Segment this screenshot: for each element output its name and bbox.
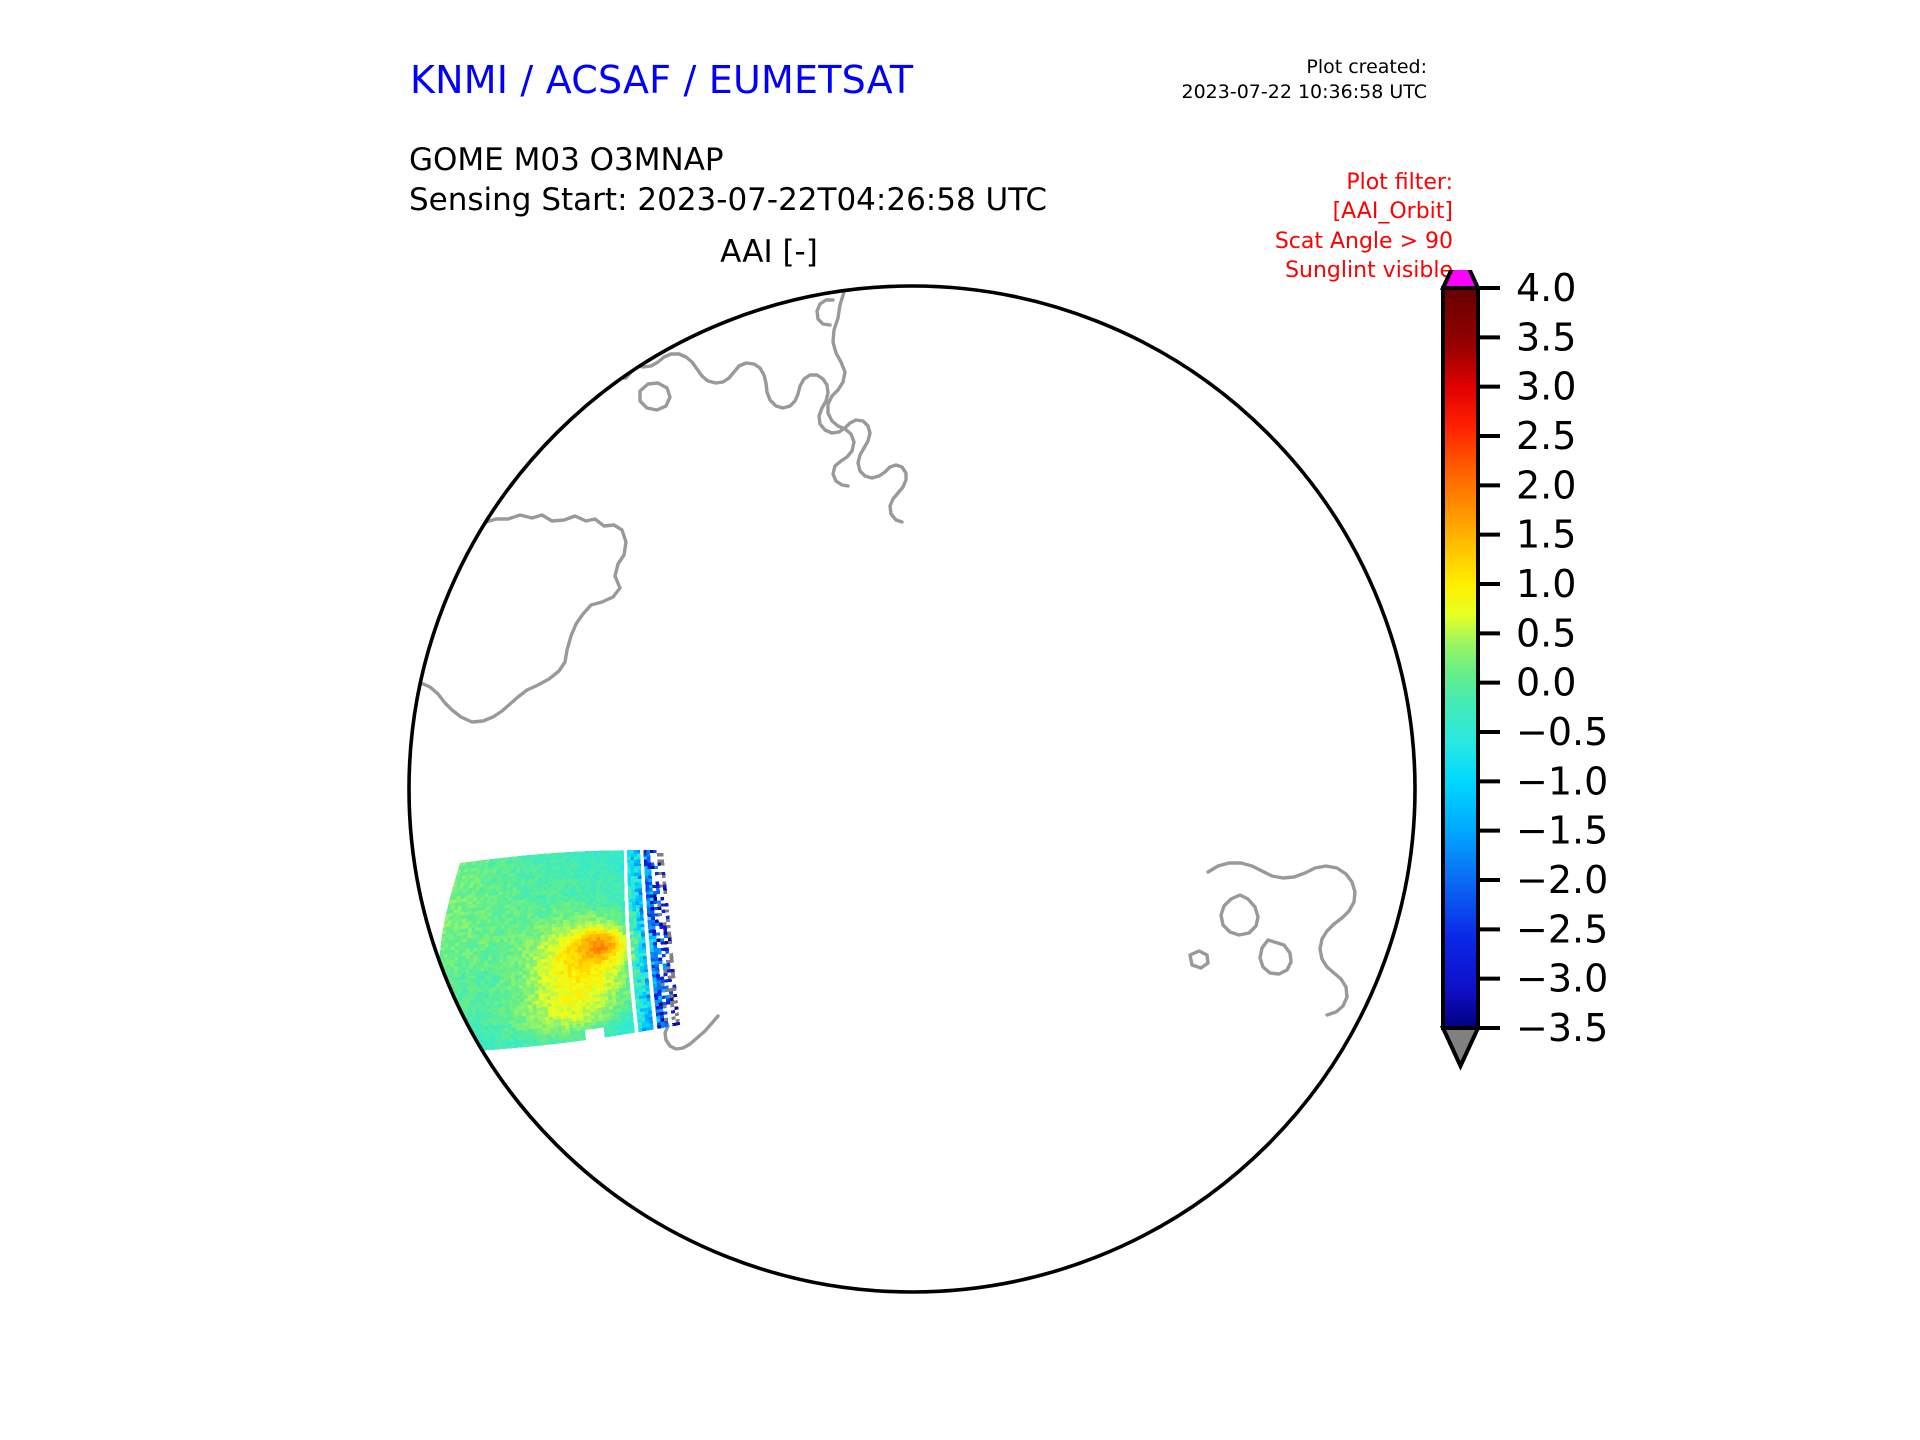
swath-pixel — [479, 1013, 483, 1017]
swath-pixel — [631, 879, 635, 882]
swath-pixel — [482, 1005, 486, 1009]
swath-pixel — [673, 988, 677, 992]
swath-pixel — [607, 851, 610, 854]
swath-pixel — [594, 1005, 598, 1009]
swath-pixel — [527, 1026, 531, 1030]
swath-pixel — [477, 968, 481, 972]
swath-pixel — [469, 982, 473, 986]
swath-pixel — [618, 982, 622, 986]
swath-pixel — [627, 1030, 631, 1034]
swath-pixel — [534, 929, 538, 933]
swath-pixel — [575, 899, 579, 903]
swath-pixel — [540, 864, 544, 868]
swath-pixel — [593, 881, 597, 885]
swath-pixel — [499, 1018, 503, 1022]
swath-pixel — [440, 944, 444, 948]
swath-pixel — [565, 981, 569, 985]
swath-pixel — [608, 953, 612, 957]
swath-pixel — [541, 857, 545, 861]
swath-pixel — [508, 993, 512, 997]
swath-pixel — [621, 883, 625, 886]
swath-pixel — [469, 921, 473, 925]
swath-pixel — [607, 887, 611, 891]
swath-pixel — [614, 1019, 618, 1023]
swath-pixel — [663, 881, 667, 884]
swath-pixel — [627, 870, 631, 873]
swath-pixel — [589, 934, 593, 938]
swath-pixel — [635, 879, 639, 882]
swath-pixel — [540, 1035, 544, 1039]
swath-pixel — [530, 970, 534, 974]
swath-pixel — [584, 1026, 588, 1030]
swath-pixel — [650, 894, 654, 897]
swath-pixel — [447, 998, 451, 1002]
swath-pixel — [629, 905, 633, 909]
swath-pixel — [564, 896, 568, 900]
swath-pixel — [654, 996, 658, 1000]
swath-pixel — [614, 850, 617, 853]
swath-pixel — [552, 958, 556, 962]
swath-pixel — [441, 937, 445, 941]
swath-pixel — [538, 980, 542, 984]
swath-pixel — [553, 1023, 557, 1027]
swath-pixel — [584, 851, 588, 855]
swath-pixel — [539, 1000, 543, 1004]
swath-pixel — [567, 950, 571, 954]
swath-pixel — [547, 887, 551, 891]
swath-pixel — [485, 1029, 489, 1033]
swath-pixel — [618, 975, 622, 979]
swath-pixel — [545, 979, 549, 983]
swath-pixel — [538, 912, 542, 916]
swath-pixel — [627, 850, 630, 853]
swath-pixel — [524, 995, 528, 999]
swath-pixel — [657, 980, 661, 984]
swath-pixel — [506, 914, 510, 918]
swath-pixel — [523, 981, 527, 985]
swath-pixel — [514, 1017, 518, 1021]
swath-pixel — [649, 882, 653, 885]
swath-pixel — [653, 894, 657, 897]
swath-pixel — [535, 990, 539, 994]
swath-pixel — [582, 955, 586, 959]
swath-pixel — [481, 958, 485, 962]
swath-pixel — [628, 876, 632, 879]
swath-pixel — [497, 990, 501, 994]
swath-pixel — [526, 940, 530, 944]
swath-pixel — [485, 940, 489, 944]
swath-pixel — [561, 1022, 565, 1026]
swath-pixel — [511, 1020, 515, 1024]
swath-pixel — [556, 1012, 560, 1016]
swath-pixel — [620, 958, 624, 962]
swath-pixel — [527, 882, 531, 886]
colorbar-ticks-group: 4.03.53.02.52.01.51.00.50.0−0.5−1.0−1.5−… — [1478, 270, 1608, 1050]
swath-pixel — [663, 1005, 667, 1009]
swath-pixel — [660, 1018, 664, 1022]
swath-pixel — [511, 1017, 515, 1021]
swath-pixel — [658, 996, 662, 1000]
swath-pixel — [589, 924, 593, 928]
swath-pixel — [509, 1000, 513, 1004]
swath-pixel — [607, 1023, 611, 1027]
swath-pixel — [494, 1004, 498, 1008]
swath-pixel — [647, 850, 651, 853]
swath-pixel — [493, 902, 497, 906]
swath-pixel — [654, 993, 658, 997]
swath-pixel — [565, 984, 569, 988]
swath-pixel — [674, 1000, 678, 1004]
swath-pixel — [469, 1020, 473, 1024]
swath-pixel — [543, 1035, 547, 1039]
swath-pixel — [660, 853, 664, 856]
swath-pixel — [641, 982, 645, 986]
swath-pixel — [589, 938, 593, 942]
swath-pixel — [458, 959, 462, 963]
swath-pixel — [556, 964, 560, 968]
swath-pixel — [635, 993, 639, 997]
swath-pixel — [621, 889, 625, 893]
swath-pixel — [654, 907, 658, 910]
swath-pixel — [454, 1049, 458, 1053]
swath-pixel — [489, 991, 493, 995]
swath-pixel — [469, 958, 473, 962]
swath-pixel — [578, 898, 582, 902]
swath-pixel — [628, 883, 632, 886]
swath-pixel — [539, 905, 543, 909]
swath-pixel — [482, 930, 486, 934]
swath-pixel — [535, 912, 539, 916]
swath-pixel — [484, 913, 488, 917]
swath-pixel — [487, 923, 491, 927]
swath-pixel — [578, 935, 582, 939]
swath-pixel — [602, 973, 606, 977]
swath-pixel — [573, 987, 577, 991]
swath-pixel — [521, 1037, 525, 1041]
swath-pixel — [548, 924, 552, 928]
swath-pixel — [660, 1015, 664, 1019]
colorbar-under-range-arrow — [1443, 1028, 1478, 1066]
swath-pixel — [617, 873, 621, 876]
swath-pixel — [629, 921, 633, 925]
swath-pixel — [611, 850, 614, 853]
swath-pixel — [529, 953, 533, 957]
swath-pixel — [469, 972, 473, 976]
swath-pixel — [546, 901, 550, 905]
swath-pixel — [586, 958, 590, 962]
swath-pixel — [634, 850, 637, 853]
swath-pixel — [496, 963, 500, 967]
swath-pixel — [617, 968, 621, 972]
colorbar-tick-label: 2.5 — [1516, 414, 1576, 458]
swath-pixel — [654, 990, 658, 994]
swath-pixel — [579, 882, 583, 886]
swath-pixel — [566, 1035, 570, 1039]
swath-pixel — [475, 1006, 479, 1010]
swath-pixel — [624, 964, 628, 968]
swath-pixel — [490, 1001, 494, 1005]
swath-pixel — [667, 925, 671, 928]
swath-pixel — [513, 910, 517, 914]
swath-pixel — [652, 971, 656, 975]
swath-pixel — [481, 975, 485, 979]
swath-pixel — [567, 906, 571, 910]
swath-pixel — [520, 995, 524, 999]
swath-pixel — [520, 913, 524, 917]
swath-pixel — [656, 1012, 660, 1016]
swath-pixel — [484, 1016, 488, 1020]
swath-pixel — [563, 930, 567, 934]
swath-pixel — [575, 966, 579, 970]
swath-pixel — [465, 969, 469, 973]
swath-pixel — [542, 911, 546, 915]
swath-pixel — [537, 1011, 541, 1015]
swath-pixel — [640, 1005, 644, 1009]
swath-pixel — [614, 975, 618, 979]
swath-pixel — [459, 939, 463, 943]
swath-pixel — [588, 985, 592, 989]
swath-pixel — [561, 1026, 565, 1030]
swath-pixel — [528, 906, 532, 910]
swath-pixel — [604, 937, 608, 941]
swath-pixel — [598, 974, 602, 978]
swath-pixel — [615, 929, 619, 933]
swath-pixel — [600, 864, 604, 867]
swath-pixel — [460, 932, 464, 936]
swath-pixel — [554, 897, 558, 901]
swath-pixel — [531, 987, 535, 991]
swath-pixel — [475, 1009, 479, 1013]
swath-pixel — [589, 894, 593, 898]
swath-pixel — [656, 1016, 660, 1020]
swath-pixel — [552, 917, 556, 921]
swath-pixel — [614, 890, 618, 893]
swath-pixel — [600, 930, 604, 934]
swath-pixel — [541, 928, 545, 932]
swath-pixel — [574, 858, 578, 862]
swath-pixel — [567, 855, 571, 859]
swath-pixel — [636, 1002, 640, 1006]
swath-pixel — [627, 860, 630, 863]
swath-pixel — [643, 850, 646, 853]
swath-pixel — [462, 980, 466, 984]
swath-pixel — [563, 873, 567, 877]
swath-pixel — [489, 940, 493, 944]
swath-pixel — [541, 925, 545, 929]
swath-pixel — [591, 971, 595, 975]
swath-pixel — [635, 950, 639, 954]
swath-pixel — [661, 948, 665, 952]
swath-pixel — [650, 949, 654, 953]
swath-pixel — [635, 889, 639, 892]
swath-pixel — [571, 956, 575, 960]
swath-pixel — [638, 982, 642, 986]
swath-pixel — [553, 900, 557, 904]
swath-pixel — [570, 862, 574, 866]
swath-pixel — [607, 989, 611, 993]
swath-pixel — [637, 934, 641, 938]
swath-pixel — [626, 984, 630, 988]
swath-pixel — [649, 885, 653, 888]
swath-pixel — [596, 907, 600, 911]
swath-pixel — [565, 1025, 569, 1029]
swath-pixel — [618, 909, 622, 913]
swath-pixel — [451, 923, 455, 927]
swath-pixel — [616, 959, 620, 963]
swath-pixel — [568, 889, 572, 893]
swath-pixel — [600, 874, 604, 878]
swath-pixel — [540, 1004, 544, 1008]
swath-pixel — [481, 1023, 485, 1027]
swath-pixel — [469, 965, 473, 969]
swath-pixel — [582, 945, 586, 949]
swath-pixel — [456, 1038, 460, 1042]
swath-pixel — [522, 964, 526, 968]
swath-pixel — [582, 959, 586, 963]
swath-pixel — [445, 1039, 449, 1043]
swath-pixel — [537, 925, 541, 929]
swath-pixel — [470, 938, 474, 942]
swath-pixel — [604, 940, 608, 944]
swath-pixel — [537, 956, 541, 960]
swath-pixel — [496, 905, 500, 909]
swath-pixel — [589, 918, 593, 922]
swath-pixel — [566, 1032, 570, 1036]
swath-pixel — [492, 970, 496, 974]
swath-pixel — [575, 902, 579, 906]
swath-pixel — [528, 858, 532, 862]
swath-pixel — [506, 887, 510, 891]
swath-pixel — [557, 859, 561, 863]
swath-pixel — [612, 939, 616, 943]
swath-pixel — [556, 1009, 560, 1013]
swath-pixel — [453, 929, 457, 933]
swath-pixel — [556, 941, 560, 945]
colorbar-tick-label: −1.5 — [1516, 809, 1608, 853]
swath-pixel — [474, 1027, 478, 1031]
swath-pixel — [556, 913, 560, 917]
swath-pixel — [657, 1025, 661, 1029]
swath-pixel — [577, 1024, 581, 1028]
swath-pixel — [565, 991, 569, 995]
swath-pixel — [598, 970, 602, 974]
swath-pixel — [592, 991, 596, 995]
swath-pixel — [559, 1002, 563, 1006]
swath-pixel — [485, 937, 489, 941]
swath-pixel — [458, 1049, 462, 1053]
swath-pixel — [484, 954, 488, 958]
swath-pixel — [652, 974, 656, 978]
swath-pixel — [559, 954, 563, 958]
swath-pixel — [526, 954, 530, 958]
swath-pixel — [514, 1044, 518, 1048]
swath-pixel — [553, 904, 557, 908]
swath-pixel — [530, 1022, 534, 1026]
swath-pixel — [611, 913, 615, 917]
swath-pixel — [523, 985, 527, 989]
swath-pixel — [513, 1006, 517, 1010]
swath-pixel — [656, 885, 660, 888]
swath-pixel — [525, 875, 529, 879]
swath-pixel — [643, 962, 647, 966]
swath-pixel — [670, 1001, 674, 1005]
swath-pixel — [641, 979, 645, 983]
swath-pixel — [615, 932, 619, 936]
swath-pixel — [607, 897, 611, 901]
swath-pixel — [563, 1005, 567, 1009]
swath-pixel — [480, 961, 484, 965]
swath-pixel — [510, 907, 514, 911]
swath-pixel — [490, 923, 494, 927]
swath-pixel — [472, 921, 476, 925]
swath-pixel — [462, 969, 466, 973]
swath-pixel — [526, 936, 530, 940]
swath-pixel — [644, 1005, 648, 1009]
swath-pixel — [535, 905, 539, 909]
swath-pixel — [474, 989, 478, 993]
swath-pixel — [566, 998, 570, 1002]
swath-pixel — [508, 1028, 512, 1032]
swath-pixel — [611, 926, 615, 930]
swath-pixel — [548, 945, 552, 949]
swath-pixel — [491, 919, 495, 923]
swath-pixel — [538, 908, 542, 912]
swath-pixel — [616, 949, 620, 953]
swath-pixel — [579, 878, 583, 882]
swath-pixel — [654, 901, 658, 904]
swath-pixel — [665, 989, 669, 993]
swath-pixel — [545, 921, 549, 925]
swath-pixel — [524, 879, 528, 883]
swath-pixel — [590, 968, 594, 972]
swath-pixel — [614, 873, 618, 876]
swath-pixel — [628, 899, 632, 903]
swath-pixel — [448, 947, 452, 951]
swath-pixel — [516, 1030, 520, 1034]
swath-pixel — [626, 1020, 630, 1024]
swath-pixel — [458, 949, 462, 953]
swath-pixel — [563, 869, 567, 873]
swath-pixel — [577, 996, 581, 1000]
swath-pixel — [576, 986, 580, 990]
swath-pixel — [548, 880, 552, 884]
swath-pixel — [601, 947, 605, 951]
swath-pixel — [581, 993, 585, 997]
swath-pixel — [631, 876, 635, 879]
swath-pixel — [492, 943, 496, 947]
swath-pixel — [570, 1004, 574, 1008]
swath-pixel — [518, 958, 522, 962]
swath-pixel — [649, 1017, 653, 1021]
swath-pixel — [614, 916, 618, 920]
swath-pixel — [464, 1038, 468, 1042]
swath-pixel — [616, 955, 620, 959]
swath-pixel — [475, 907, 479, 911]
swath-pixel — [514, 907, 518, 911]
swath-pixel — [555, 880, 559, 884]
swath-pixel — [538, 922, 542, 926]
swath-pixel — [613, 966, 617, 970]
swath-pixel — [556, 971, 560, 975]
swath-pixel — [585, 999, 589, 1003]
swath-pixel — [462, 1048, 466, 1052]
swath-pixel — [510, 911, 514, 915]
swath-pixel — [629, 912, 633, 916]
swath-pixel — [581, 925, 585, 929]
swath-pixel — [646, 895, 650, 898]
swath-pixel — [654, 955, 658, 959]
swath-pixel — [559, 930, 563, 934]
